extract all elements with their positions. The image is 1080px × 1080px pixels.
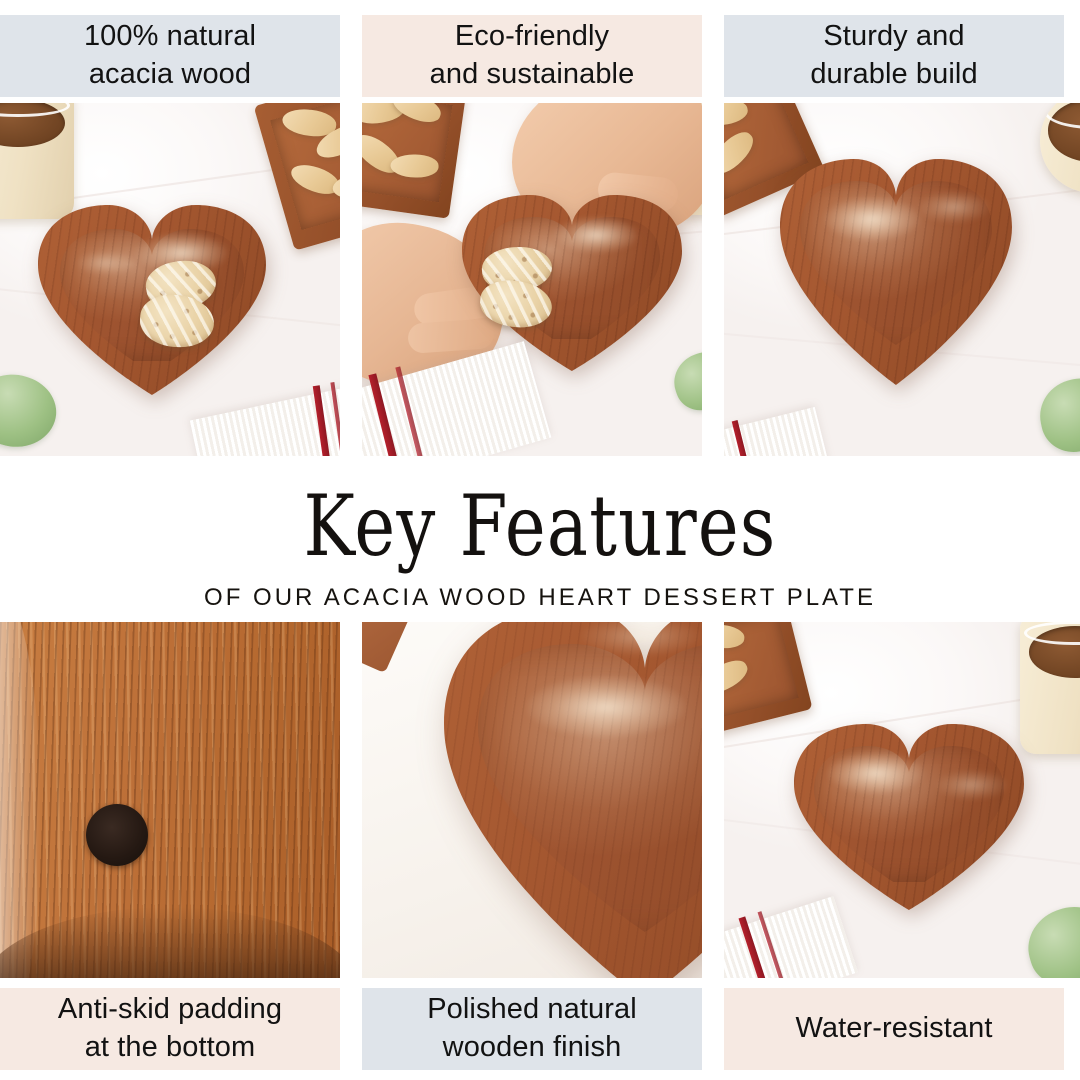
- photo-top-right: [724, 103, 1080, 456]
- caption-top-1: 100% natural acacia wood: [0, 15, 340, 97]
- page-title: Key Features: [97, 484, 983, 568]
- cookie: [478, 277, 554, 330]
- caption-top-2: Eco-friendly and sustainable: [362, 15, 702, 97]
- caption-bottom-2-line1: Polished natural: [427, 991, 637, 1029]
- caption-top-2-line2: and sustainable: [430, 56, 635, 94]
- photo-bottom-left: [0, 622, 340, 978]
- heart-plate: [454, 189, 690, 375]
- caption-top-3: Sturdy and durable build: [724, 15, 1064, 97]
- caption-bottom-2-line2: wooden finish: [427, 1029, 637, 1067]
- caption-bottom-3-line1: Water-resistant: [795, 1010, 992, 1048]
- key-features-heading: Key Features OF OUR ACACIA WOOD HEART DE…: [0, 484, 1080, 612]
- heart-plate: [784, 718, 1034, 916]
- photo-top-left: [0, 103, 340, 456]
- caption-top-2-line1: Eco-friendly: [430, 18, 635, 56]
- heart-plate: [772, 151, 1020, 391]
- photo-top-center: [362, 103, 702, 456]
- caption-top-1-line2: acacia wood: [84, 56, 256, 94]
- page-subtitle: OF OUR ACACIA WOOD HEART DESSERT PLATE: [0, 584, 1080, 612]
- wood-grain-surface: [0, 622, 340, 978]
- cookie-tray: [362, 103, 466, 219]
- caption-top-3-line1: Sturdy and: [810, 18, 977, 56]
- photo-bottom-right: [724, 622, 1080, 978]
- caption-bottom-1-line2: at the bottom: [58, 1029, 282, 1067]
- caption-bottom-1-line1: Anti-skid padding: [58, 991, 282, 1029]
- caption-bottom-3: Water-resistant: [724, 988, 1064, 1070]
- caption-bottom-1: Anti-skid padding at the bottom: [0, 988, 340, 1070]
- caption-top-3-line2: durable build: [810, 56, 977, 94]
- anti-skid-pad: [86, 804, 148, 866]
- photo-bottom-center: [362, 622, 702, 978]
- cookie: [138, 292, 215, 349]
- heart-plate: [28, 199, 276, 399]
- caption-top-1-line1: 100% natural: [84, 18, 256, 56]
- caption-bottom-2: Polished natural wooden finish: [362, 988, 702, 1070]
- product-feature-collage: 100% natural acacia wood Eco-friendly an…: [0, 0, 1080, 1080]
- heart-plate: [430, 622, 702, 978]
